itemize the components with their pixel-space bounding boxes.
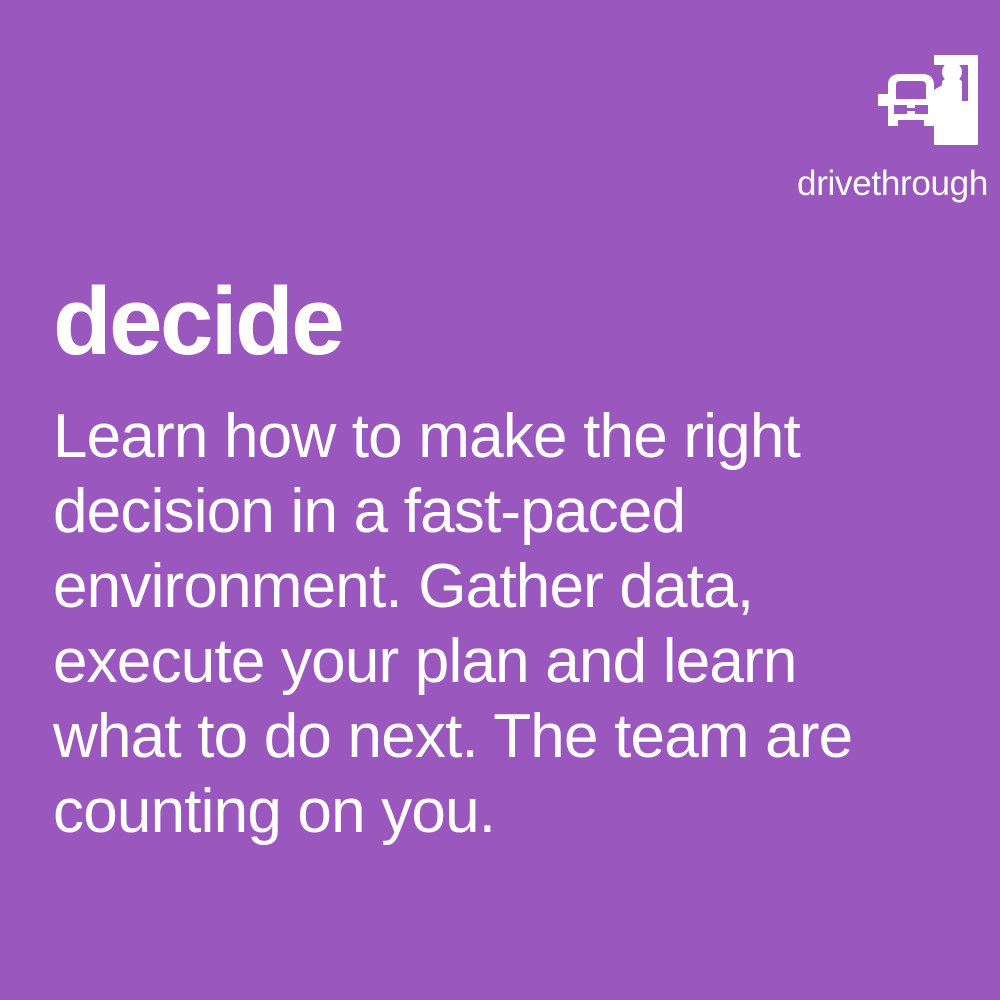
body-line: Learn how to make the right	[53, 399, 933, 474]
body-line: counting on you.	[53, 774, 933, 849]
body-description: Learn how to make the right decision in …	[53, 399, 933, 849]
body-line: what to do next. The team are	[53, 699, 933, 774]
body-line: execute your plan and learn	[53, 624, 933, 699]
drivethrough-icon	[866, 52, 988, 148]
brand-lockup: drivethrough	[728, 52, 988, 201]
page-title: decide	[53, 272, 342, 373]
body-line: decision in a fast-paced	[53, 474, 933, 549]
brand-name: drivethrough	[797, 166, 988, 201]
body-line: environment. Gather data,	[53, 549, 933, 624]
promo-card: drivethrough decide Learn how to make th…	[0, 0, 1000, 1000]
